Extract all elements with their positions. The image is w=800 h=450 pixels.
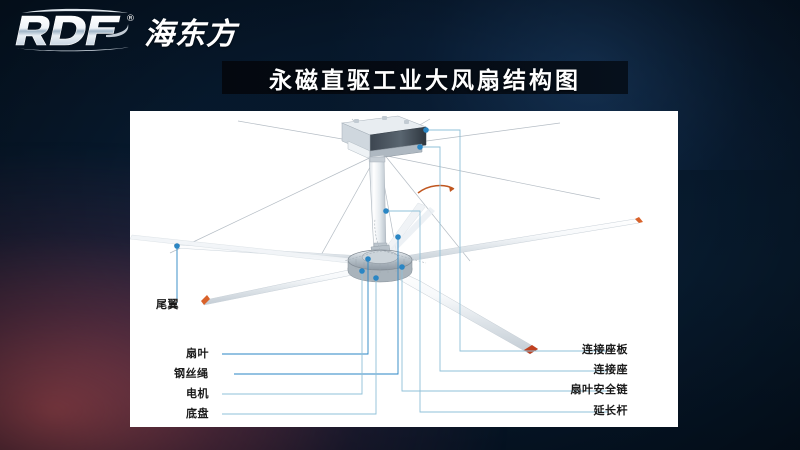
brand-name-cn: 海东方 bbox=[144, 9, 237, 53]
callout-dot-blade bbox=[365, 256, 371, 262]
brand-logo: ® 海东方 bbox=[10, 6, 237, 56]
title-banner: 永磁直驱工业大风扇结构图 bbox=[222, 61, 628, 94]
label-tail-fin: 尾翼 bbox=[156, 299, 179, 310]
callout-dot-tail-fin bbox=[174, 243, 180, 249]
callout-dot-wire-rope bbox=[395, 234, 401, 240]
callout-dot-mount-seat bbox=[417, 144, 423, 150]
extension-rod bbox=[369, 155, 387, 253]
callout-dot-safety-chain bbox=[399, 264, 405, 270]
fan-blade-right-lower bbox=[384, 265, 538, 354]
label-chassis: 底盘 bbox=[186, 408, 209, 419]
page-title: 永磁直驱工业大风扇结构图 bbox=[269, 61, 581, 95]
label-motor: 电机 bbox=[186, 388, 209, 399]
callout-dot-chassis bbox=[373, 275, 379, 281]
rdf-logo-icon: ® bbox=[10, 7, 138, 55]
callout-dot-extension-rod bbox=[383, 208, 389, 214]
ceiling-mount-bracket bbox=[342, 116, 426, 159]
label-wire-rope: 钢丝绳 bbox=[174, 368, 209, 379]
diagram-panel: 尾翼 扇叶 钢丝绳 电机 底盘 连接座板 连接座 扇叶安全链 延长杆 bbox=[130, 111, 678, 427]
fan-blade-right-upper bbox=[386, 217, 643, 265]
rotation-arrow bbox=[418, 186, 454, 193]
label-safety-chain: 扇叶安全链 bbox=[538, 384, 628, 395]
trademark-symbol: ® bbox=[126, 14, 135, 24]
label-blade: 扇叶 bbox=[186, 348, 209, 359]
label-mount-seat: 连接座 bbox=[548, 364, 628, 375]
label-extension-rod: 延长杆 bbox=[548, 405, 628, 416]
fan-structure-illustration bbox=[130, 111, 678, 427]
fan-blade-far-left bbox=[130, 235, 376, 266]
label-mount-plate: 连接座板 bbox=[548, 344, 628, 355]
callout-dot-mount-plate bbox=[423, 127, 429, 133]
callout-dot-motor bbox=[359, 268, 365, 274]
